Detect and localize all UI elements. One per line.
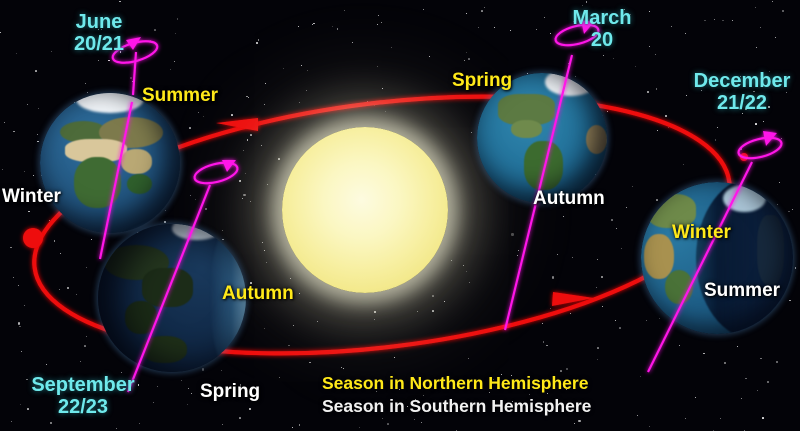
season-label-december-northern: Winter — [672, 222, 731, 243]
season-label-september-southern: Spring — [200, 381, 260, 402]
rotation-axis-september — [128, 159, 240, 392]
season-label-march-northern: Spring — [452, 70, 512, 91]
seasons-diagram: June 20/21 September 22/23 March 20 Dece… — [0, 0, 800, 431]
season-label-march-southern: Autumn — [533, 188, 605, 209]
date-label-june: June 20/21 — [44, 11, 154, 56]
date-label-september: September 22/23 — [18, 374, 148, 419]
legend-northern-hemisphere: Season in Northern Hemisphere — [322, 372, 591, 395]
legend: Season in Northern Hemisphere Season in … — [322, 372, 591, 418]
rotation-axes-layer — [0, 0, 800, 431]
date-label-december: December 21/22 — [686, 70, 798, 115]
season-label-june-southern: Winter — [2, 186, 61, 207]
season-label-june-northern: Summer — [142, 85, 218, 106]
rotation-axis-june — [100, 37, 160, 259]
season-label-september-northern: Autumn — [222, 283, 294, 304]
rotation-axis-december — [648, 131, 784, 372]
legend-southern-hemisphere: Season in Southern Hemisphere — [322, 395, 591, 418]
season-label-december-southern: Summer — [704, 280, 780, 301]
rotation-axis-march — [505, 20, 601, 330]
date-label-march: March 20 — [553, 7, 651, 52]
